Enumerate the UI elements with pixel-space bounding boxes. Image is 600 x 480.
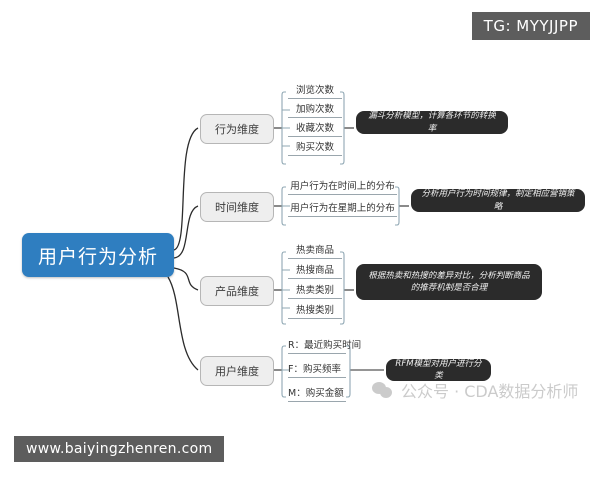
wechat-watermark-label: 公众号 · CDA数据分析师 (401, 378, 578, 402)
leaf-item[interactable]: 热搜类别 (288, 302, 342, 319)
branch-label: 用户维度 (215, 363, 259, 379)
leaf-item[interactable]: 热搜商品 (288, 262, 342, 279)
leaf-item[interactable]: 收藏次数 (288, 120, 342, 137)
annotation-note: 分析用户行为时间规律，制定相应营销策略 (411, 189, 585, 212)
leaf-item[interactable]: 加购次数 (288, 101, 342, 118)
leaf-item[interactable]: 用户行为在星期上的分布 (288, 200, 397, 217)
branch-node-time[interactable]: 时间维度 (200, 192, 274, 222)
leaf-item[interactable]: F：购买频率 (288, 361, 346, 378)
leaf-item[interactable]: 购买次数 (288, 139, 342, 156)
branch-node-product[interactable]: 产品维度 (200, 276, 274, 306)
website-watermark: www.baiyingzhenren.com (14, 436, 224, 462)
leaf-item[interactable]: 热卖类别 (288, 282, 342, 299)
annotation-note: 漏斗分析模型，计算各环节的转换率 (356, 111, 508, 134)
leaf-item[interactable]: 用户行为在时间上的分布 (288, 178, 397, 195)
leaf-item[interactable]: M：购买金额 (288, 385, 346, 402)
mindmap-canvas: 用户行为分析 行为维度 浏览次数 加购次数 收藏次数 购买次数 漏斗分析模型，计… (0, 0, 600, 480)
annotation-note: 根据热卖和热搜的差异对比，分析判断商品的推荐机制是否合理 (356, 264, 542, 300)
telegram-watermark: TG: MYYJJPP (472, 12, 590, 40)
leaf-item[interactable]: R：最近购买时间 (288, 337, 346, 354)
root-node[interactable]: 用户行为分析 (22, 233, 174, 277)
branch-node-behavior[interactable]: 行为维度 (200, 114, 274, 144)
leaf-item[interactable]: 热卖商品 (288, 242, 342, 259)
wechat-icon (372, 381, 394, 399)
root-node-label: 用户行为分析 (38, 242, 158, 269)
wechat-watermark: 公众号 · CDA数据分析师 (372, 378, 578, 402)
branch-label: 产品维度 (215, 283, 259, 299)
leaf-item[interactable]: 浏览次数 (288, 82, 342, 99)
branch-node-user[interactable]: 用户维度 (200, 356, 274, 386)
branch-label: 行为维度 (215, 121, 259, 137)
branch-label: 时间维度 (215, 199, 259, 215)
